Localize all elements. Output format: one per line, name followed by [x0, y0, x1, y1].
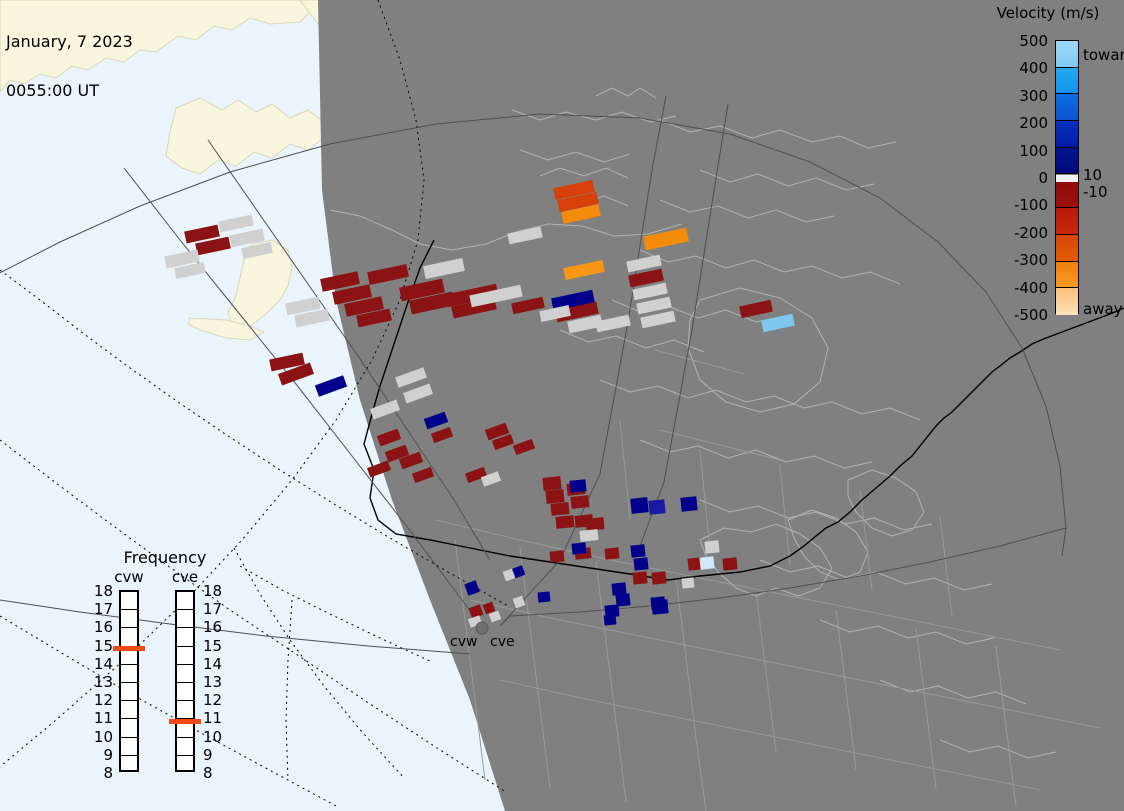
colorbar-tick: 400 — [1019, 61, 1048, 76]
velocity-cell — [604, 614, 617, 625]
gauge-tick-label: 16 — [203, 620, 222, 635]
colorbar-segment — [1056, 262, 1078, 289]
gauge-cell — [177, 701, 193, 719]
gauge-cell — [121, 628, 137, 646]
frequency-marker-cve — [169, 719, 201, 724]
gauge-cell — [177, 628, 193, 646]
velocity-cell — [604, 547, 619, 559]
colorbar-tick: 100 — [1019, 144, 1048, 159]
radar-map-view: January, 7 2023 0055:00 UT Velocity (m/s… — [0, 0, 1124, 811]
gauge-tick-label: 15 — [203, 639, 222, 654]
gauge-tick-label: 8 — [93, 766, 113, 781]
gauge-tick-label: 15 — [93, 639, 113, 654]
colorbar-tick: 0 — [1038, 171, 1048, 186]
colorbar-segment — [1056, 121, 1078, 148]
velocity-cell — [651, 599, 668, 615]
radar-site-marker — [476, 622, 488, 634]
colorbar-tick: 300 — [1019, 89, 1048, 104]
velocity-cell — [550, 502, 569, 516]
gauge-cell — [121, 719, 137, 737]
gauge-cell — [177, 647, 193, 665]
velocity-cell — [542, 476, 561, 491]
gauge-tick-label: 14 — [203, 657, 222, 672]
colorbar-segment — [1056, 235, 1078, 262]
colorbar-away-label: away — [1083, 302, 1123, 317]
gauge-cell — [121, 610, 137, 628]
gauge-name-cve: cve — [161, 568, 209, 586]
gauge-tick-label: 10 — [203, 730, 222, 745]
velocity-cell — [571, 542, 586, 554]
velocity-cell — [555, 515, 574, 529]
gauge-cell — [177, 592, 193, 610]
gauge-cell — [121, 592, 137, 610]
gauge-tick-label: 17 — [203, 602, 222, 617]
velocity-cell — [538, 591, 551, 602]
gauge-cell — [177, 756, 193, 774]
velocity-cell — [682, 577, 695, 588]
velocity-cell — [680, 496, 697, 512]
gauge-cell — [121, 665, 137, 683]
velocity-cell — [648, 499, 665, 515]
velocity-cell — [570, 495, 589, 509]
gauge-tick-label: 14 — [93, 657, 113, 672]
colorbar-segment — [1056, 41, 1078, 68]
velocity-cell — [722, 557, 737, 570]
colorbar-tick: -200 — [1014, 226, 1048, 241]
colorbar-tick: -300 — [1014, 253, 1048, 268]
gauge-tick-label: 12 — [203, 693, 222, 708]
velocity-cell — [633, 557, 648, 570]
frequency-title: Frequency — [85, 548, 245, 567]
gauge-cell — [121, 683, 137, 701]
timestamp-block: January, 7 2023 0055:00 UT — [6, 2, 133, 132]
colorbar-tick: -500 — [1014, 308, 1048, 323]
gauge-tick-label: 11 — [203, 711, 222, 726]
colorbar-segment — [1056, 288, 1078, 315]
velocity-colorbar: Velocity (m/s) 5004003002001000-100-200-… — [975, 2, 1124, 332]
colorbar-tick: 200 — [1019, 116, 1048, 131]
colorbar-tick: -100 — [1014, 198, 1048, 213]
gauge-cell — [177, 738, 193, 756]
gauge-cell — [121, 738, 137, 756]
velocity-cell — [579, 529, 598, 542]
station-label-cvw: cvw — [450, 634, 477, 650]
colorbar-segment — [1056, 208, 1078, 235]
colorbar-segment — [1056, 94, 1078, 121]
colorbar-tick: 500 — [1019, 34, 1048, 49]
frequency-gauge-cve[interactable] — [175, 590, 195, 772]
gauge-tick-label: 11 — [93, 711, 113, 726]
velocity-cell — [704, 540, 719, 553]
gauge-tick-label: 16 — [93, 620, 113, 635]
colorbar-tick: -400 — [1014, 281, 1048, 296]
velocity-cell — [651, 571, 666, 584]
gauge-tick-label: 10 — [93, 730, 113, 745]
colorbar-title: Velocity (m/s) — [975, 4, 1121, 22]
colorbar-segment — [1056, 182, 1078, 209]
velocity-cell — [545, 489, 564, 504]
velocity-cell — [699, 556, 714, 569]
velocity-cell — [585, 517, 604, 531]
velocity-cell — [569, 479, 586, 493]
gauge-cell — [121, 701, 137, 719]
frequency-marker-cvw — [113, 646, 145, 651]
colorbar-segment — [1056, 175, 1078, 182]
velocity-cell — [630, 497, 648, 514]
frequency-panel: Frequency cvw18171615141312111098cve1817… — [85, 548, 245, 788]
colorbar-toward-label: toward — [1083, 48, 1124, 63]
time-label: 0055:00 UT — [6, 83, 133, 100]
station-label-cve: cve — [490, 634, 515, 650]
velocity-cell — [549, 550, 564, 562]
gauge-tick-label: 17 — [93, 602, 113, 617]
gauge-cell — [121, 756, 137, 774]
gauge-tick-label: 13 — [203, 675, 222, 690]
gauge-tick-label: 9 — [203, 748, 213, 763]
frequency-gauge-cvw[interactable] — [119, 590, 139, 772]
colorbar-segment — [1056, 148, 1078, 175]
colorbar-negative-threshold: -10 — [1083, 185, 1108, 200]
velocity-cell — [632, 571, 647, 584]
colorbar-segment — [1056, 68, 1078, 95]
gauge-cell — [177, 610, 193, 628]
gauge-tick-label: 18 — [93, 584, 113, 599]
gauge-tick-label: 12 — [93, 693, 113, 708]
velocity-cell — [611, 582, 626, 595]
gauge-cell — [177, 683, 193, 701]
gauge-tick-label: 18 — [203, 584, 222, 599]
colorbar-gradient — [1055, 40, 1079, 314]
gauge-cell — [177, 665, 193, 683]
gauge-tick-label: 8 — [203, 766, 213, 781]
gauge-tick-label: 9 — [93, 748, 113, 763]
gauge-tick-label: 13 — [93, 675, 113, 690]
colorbar-positive-threshold: 10 — [1083, 168, 1102, 183]
velocity-cell — [630, 544, 645, 557]
date-label: January, 7 2023 — [6, 34, 133, 51]
